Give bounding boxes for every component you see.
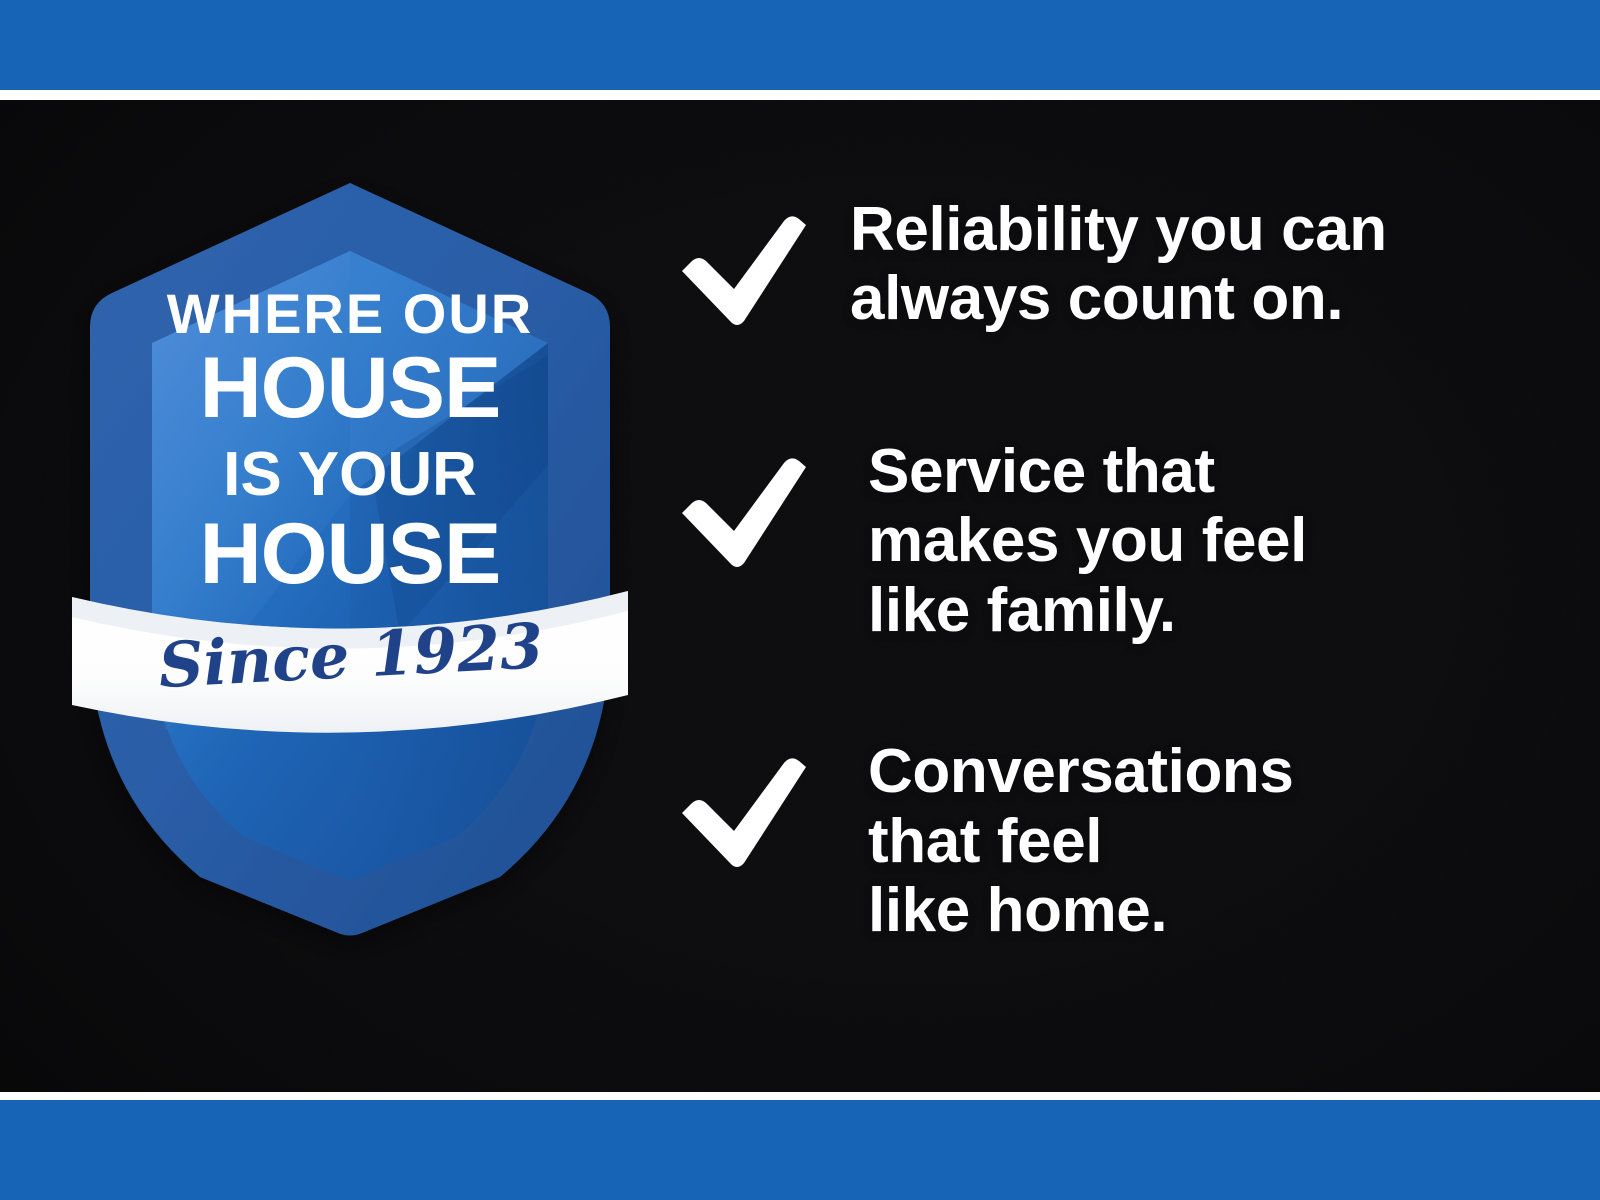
badge-line-3: IS YOUR [223,440,477,509]
benefit-text: Reliability you can always count on. [850,195,1522,334]
badge-line-1: WHERE OUR [167,282,533,345]
benefit-line: Service that [868,437,1215,506]
benefit-line: like family. [868,576,1176,645]
check-icon [672,451,810,573]
benefit-line: Reliability you can [850,195,1387,264]
benefit-line: makes you feel [868,506,1307,575]
marketing-poster: WHERE OUR HOUSE IS YOUR HOUSE Since 1923… [0,0,1600,1200]
bottom-brand-bar [0,1100,1600,1200]
badge-line-4: HOUSE [200,506,501,602]
benefit-list: Reliability you can always count on. Ser… [672,195,1532,946]
shield-badge: WHERE OUR HOUSE IS YOUR HOUSE Since 1923 [70,165,630,955]
benefit-line: that feel [868,807,1102,876]
benefit-item: Service that makes you feel like family. [672,437,1532,645]
badge-line-2: HOUSE [200,340,501,436]
benefit-item: Conversations that feel like home. [672,737,1532,945]
benefit-line: like home. [868,876,1167,945]
benefit-item: Reliability you can always count on. [672,195,1532,345]
benefit-text: Service that makes you feel like family. [868,437,1464,645]
benefit-line: Conversations [868,737,1293,806]
benefit-text: Conversations that feel like home. [868,737,1464,945]
top-brand-bar [0,0,1600,90]
check-icon [672,209,810,331]
check-icon [672,751,810,873]
benefit-line: always count on. [850,264,1343,333]
